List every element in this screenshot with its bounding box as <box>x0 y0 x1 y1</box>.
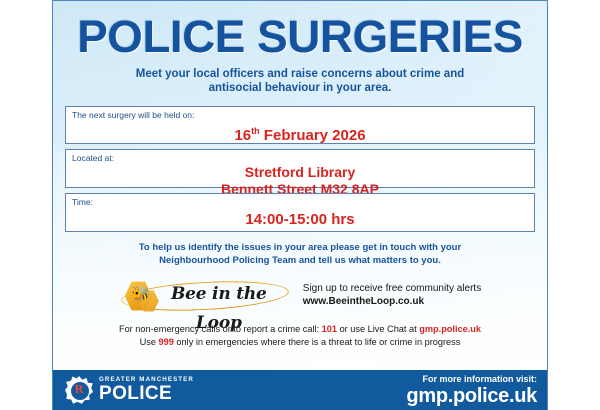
emergency-text-1: Use <box>140 337 159 347</box>
info-box-time: Time: 14:00-15:00 hrs <box>65 193 535 232</box>
bee-signup-line-1: Sign up to receive free community alerts <box>303 282 481 295</box>
mid-paragraph: To help us identify the issues in your a… <box>100 242 500 267</box>
mid-paragraph-line-2: Neighbourhood Policing Team and tell us … <box>100 255 500 268</box>
location-label: Located at: <box>72 153 528 164</box>
page-title: POLICE SURGERIES <box>52 13 548 61</box>
footer-info: For more information visit: gmp.police.u… <box>406 374 537 407</box>
footer-bar: R GREATER MANCHESTER POLICE For more inf… <box>53 370 548 410</box>
location-line-1: Stretford Library <box>72 164 528 181</box>
time-value: 14:00-15:00 hrs <box>72 211 528 229</box>
emergency-number: 999 <box>159 337 174 347</box>
bee-in-the-loop-logo: 🐝 Bee in the Loop <box>119 278 289 312</box>
non-emergency-text-2: or use Live Chat at <box>337 324 419 334</box>
gmp-wordmark: GREATER MANCHESTER POLICE <box>99 377 194 403</box>
footer-info-label: For more information visit: <box>406 374 537 385</box>
bee-signup-url[interactable]: www.BeeintheLoop.co.uk <box>303 295 481 308</box>
logo-script-text: Bee in the Loop <box>153 280 285 338</box>
bee-icon: 🐝 <box>132 286 150 304</box>
date-day-number: 16 <box>234 127 251 144</box>
footer-info-url[interactable]: gmp.police.uk <box>406 385 537 407</box>
emergency-line-2: Use 999 only in emergencies where there … <box>75 336 525 349</box>
mid-paragraph-line-1: To help us identify the issues in your a… <box>100 242 500 255</box>
bee-signup-text: Sign up to receive free community alerts… <box>303 282 481 308</box>
date-month-year: February 2026 <box>260 127 366 144</box>
emergency-info: For non-emergency calls or to report a c… <box>75 323 525 349</box>
emergency-line-1: For non-emergency calls or to report a c… <box>75 323 525 336</box>
crest-monogram: R <box>65 381 93 399</box>
date-label: The next surgery will be held on: <box>72 110 528 121</box>
live-chat-url[interactable]: gmp.police.uk <box>419 324 481 334</box>
subtitle-line-1: Meet your local officers and raise conce… <box>100 67 500 81</box>
date-value: 16th February 2026 <box>72 122 528 145</box>
info-box-location: Located at: Stretford Library Bennett St… <box>65 149 535 188</box>
gmp-brand: R GREATER MANCHESTER POLICE <box>65 376 194 404</box>
bee-in-the-loop-row: 🐝 Bee in the Loop Sign up to receive fre… <box>53 278 547 312</box>
emergency-text-2: only in emergencies where there is a thr… <box>174 337 460 347</box>
non-emergency-number: 101 <box>322 324 337 334</box>
info-box-group: The next surgery will be held on: 16th F… <box>65 106 535 232</box>
info-box-date: The next surgery will be held on: 16th F… <box>65 106 535 144</box>
page-subtitle: Meet your local officers and raise conce… <box>100 67 500 95</box>
date-day-suffix: th <box>251 126 260 136</box>
police-crest-icon: R <box>65 376 93 404</box>
poster: POLICE SURGERIES Meet your local officer… <box>52 0 548 410</box>
time-label: Time: <box>72 197 528 208</box>
subtitle-line-2: antisocial behaviour in your area. <box>100 81 500 95</box>
force-name-label: POLICE <box>99 384 194 403</box>
